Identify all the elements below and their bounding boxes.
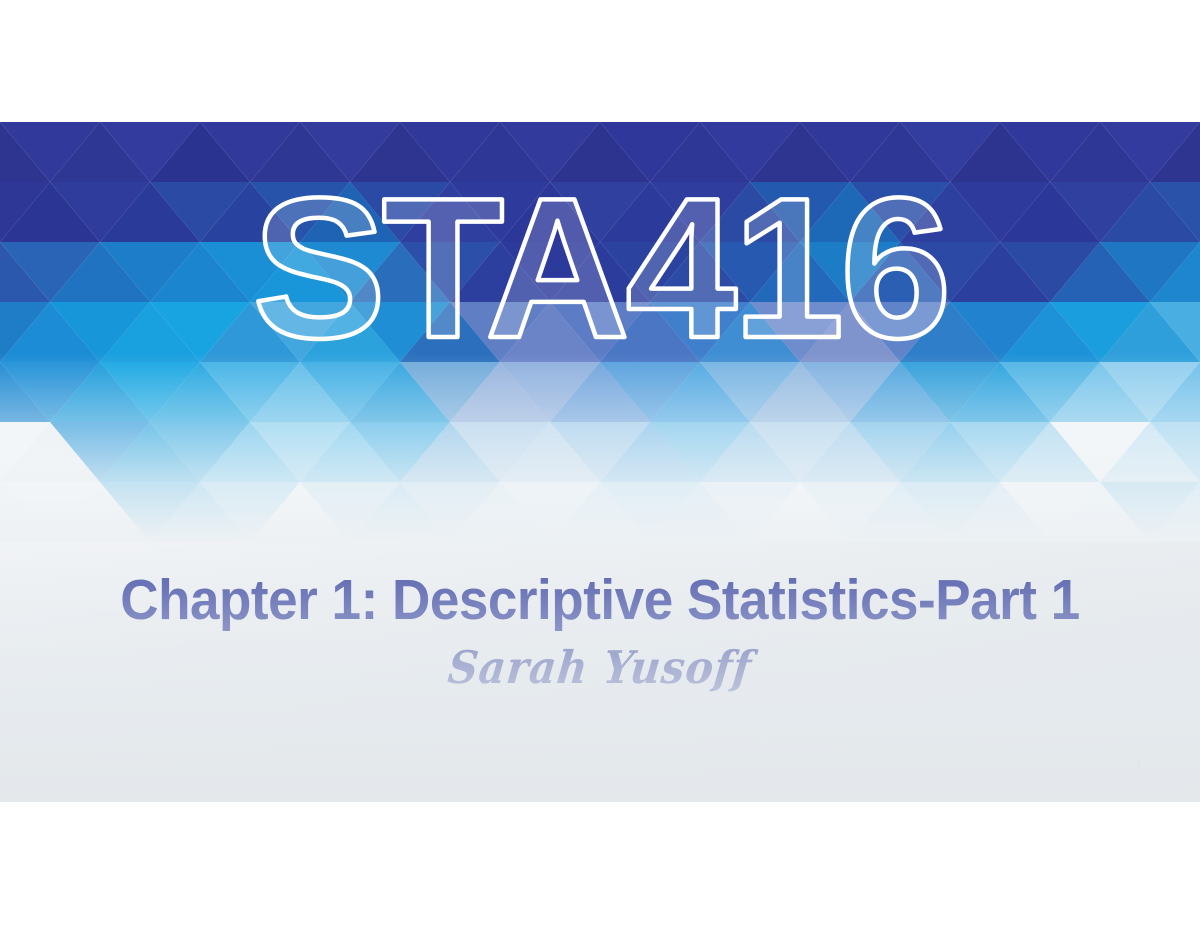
title-block: Chapter 1: Descriptive Statistics-Part 1… bbox=[0, 572, 1200, 694]
slide-number: 1 bbox=[1135, 758, 1143, 775]
slide-subtitle-author: Sarah Yusoff bbox=[45, 641, 1155, 694]
triangle-mosaic-icon bbox=[0, 122, 1200, 542]
screenshot-canvas: STA416 Chapter 1: Descriptive Statistics… bbox=[0, 0, 1200, 927]
slide-title: Chapter 1: Descriptive Statistics-Part 1 bbox=[42, 572, 1158, 629]
presentation-slide[interactable]: STA416 Chapter 1: Descriptive Statistics… bbox=[0, 122, 1200, 802]
